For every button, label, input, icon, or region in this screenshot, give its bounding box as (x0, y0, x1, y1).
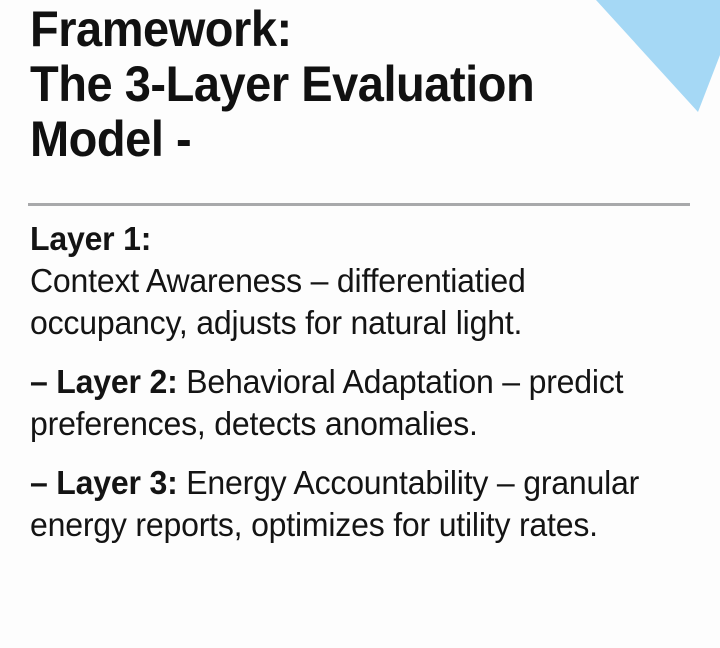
slide-canvas: Framework: The 3-Layer Evaluation Model … (0, 0, 720, 648)
body-content: Layer 1:Context Awareness – differentiat… (30, 218, 682, 546)
title-line-2: The 3-Layer Evaluation (30, 57, 632, 112)
layer-1-text: Context Awareness – differentiatied occu… (30, 262, 526, 341)
layer-2-label: – Layer 2: (30, 363, 178, 400)
layer-2-paragraph: – Layer 2: Behavioral Adaptation – predi… (30, 361, 662, 445)
layer-1-label: Layer 1: (30, 218, 662, 260)
layer-3-label: – Layer 3: (30, 464, 178, 501)
title-line-3: Model - (30, 112, 632, 167)
layer-3-paragraph: – Layer 3: Energy Accountability – granu… (30, 462, 662, 546)
title-divider (28, 203, 690, 206)
layer-1-paragraph: Layer 1:Context Awareness – differentiat… (30, 218, 662, 344)
page-title: Framework: The 3-Layer Evaluation Model … (30, 2, 670, 167)
title-line-1: Framework: (30, 2, 632, 57)
